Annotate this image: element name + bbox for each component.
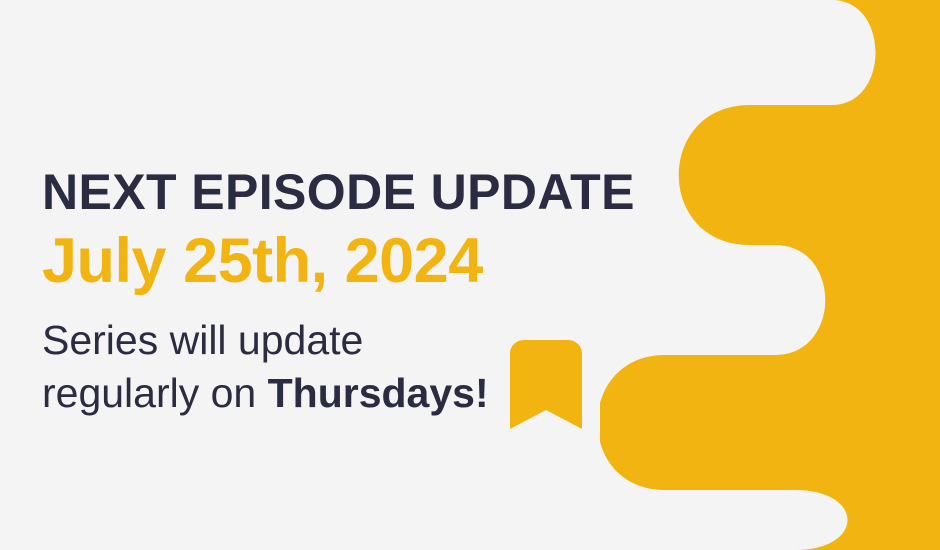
episode-date: July 25th, 2024 xyxy=(42,228,682,294)
next-episode-update-banner: NEXT EPISODE UPDATE July 25th, 2024 Seri… xyxy=(0,0,940,550)
banner-text-block: NEXT EPISODE UPDATE July 25th, 2024 Seri… xyxy=(42,166,682,419)
schedule-note-day: Thursdays xyxy=(268,370,475,416)
schedule-note-line2-suffix: ! xyxy=(475,370,489,416)
bookmark-icon xyxy=(510,340,582,429)
schedule-note-line2-prefix: regularly on xyxy=(42,370,268,416)
schedule-note: Series will update regularly on Thursday… xyxy=(42,314,512,419)
schedule-note-line1: Series will update xyxy=(42,317,363,363)
page-title: NEXT EPISODE UPDATE xyxy=(42,166,682,218)
